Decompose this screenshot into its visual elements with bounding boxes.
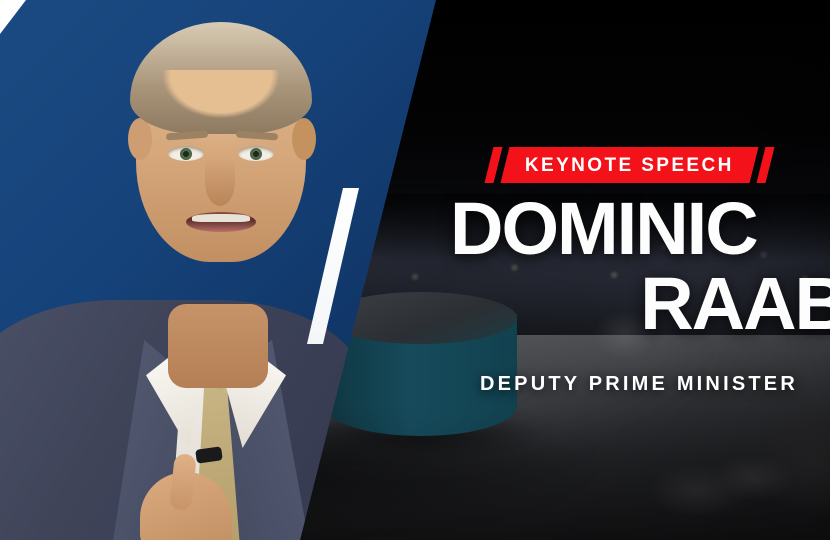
keynote-label-bar: KEYNOTE SPEECH bbox=[501, 147, 759, 183]
teeth bbox=[192, 214, 250, 222]
speaker-last-name: RAAB bbox=[450, 271, 830, 338]
iris-right bbox=[250, 148, 262, 160]
ear-right bbox=[292, 118, 316, 160]
ear-left bbox=[128, 118, 152, 160]
speaker-first-name: DOMINIC bbox=[450, 196, 830, 263]
foreground-shoes-silhouette bbox=[630, 410, 830, 540]
speaker-role: DEPUTY PRIME MINISTER bbox=[448, 373, 830, 396]
hair bbox=[130, 22, 312, 134]
keynote-label: KEYNOTE SPEECH bbox=[525, 156, 734, 175]
neck bbox=[168, 304, 268, 388]
nose bbox=[205, 158, 235, 206]
speaker-name: DOMINIC RAAB bbox=[450, 196, 830, 337]
keynote-banner: KEYNOTE SPEECH bbox=[489, 147, 770, 183]
keynote-banner-graphic: KEYNOTE SPEECH DOMINIC RAAB DEPUTY PRIME… bbox=[0, 0, 830, 540]
iris-left bbox=[180, 148, 192, 160]
speaker-portrait bbox=[0, 0, 360, 540]
